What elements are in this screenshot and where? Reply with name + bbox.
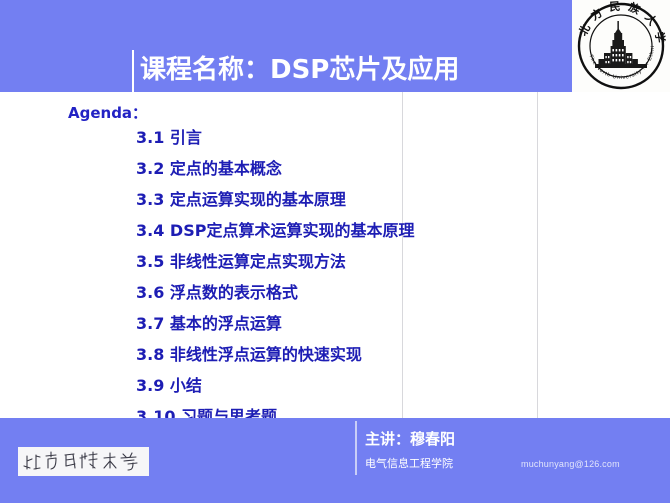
agenda-list: 3.1 引言 3.2 定点的基本概念 3.3 定点运算实现的基本原理 3.4 D… [136,122,636,432]
agenda-item-3-6[interactable]: 3.6 浮点数的表示格式 [136,277,636,308]
agenda-item-3-5[interactable]: 3.5 非线性运算定点实现方法 [136,246,636,277]
footer-accent-rule [355,421,357,475]
university-wordmark-logo [18,447,149,476]
agenda-item-3-4[interactable]: 3.4 DSP定点算术运算实现的基本原理 [136,215,636,246]
title-accent-rule [132,50,134,92]
agenda-label: Agenda： [68,102,147,123]
contact-email[interactable]: muchunyang@126.com [521,459,620,469]
agenda-item-3-1[interactable]: 3.1 引言 [136,122,636,153]
presentation-slide: 课程名称：DSP芯片及应用 [0,0,670,503]
agenda-item-3-3[interactable]: 3.3 定点运算实现的基本原理 [136,184,636,215]
agenda-item-3-2[interactable]: 3.2 定点的基本概念 [136,153,636,184]
presenter-name: 主讲：穆春阳 [365,428,455,449]
university-seal-logo: 北方民族大学 The North University for Ethnics [572,0,670,92]
slide-content-panel: Agenda： 3.1 引言 3.2 定点的基本概念 3.3 定点运算实现的基本… [0,92,670,418]
agenda-item-3-8[interactable]: 3.8 非线性浮点运算的快速实现 [136,339,636,370]
agenda-item-3-7[interactable]: 3.7 基本的浮点运算 [136,308,636,339]
slide-title: 课程名称：DSP芯片及应用 [140,50,459,90]
agenda-item-3-9[interactable]: 3.9 小结 [136,370,636,401]
department-name: 电气信息工程学院 [365,455,453,471]
